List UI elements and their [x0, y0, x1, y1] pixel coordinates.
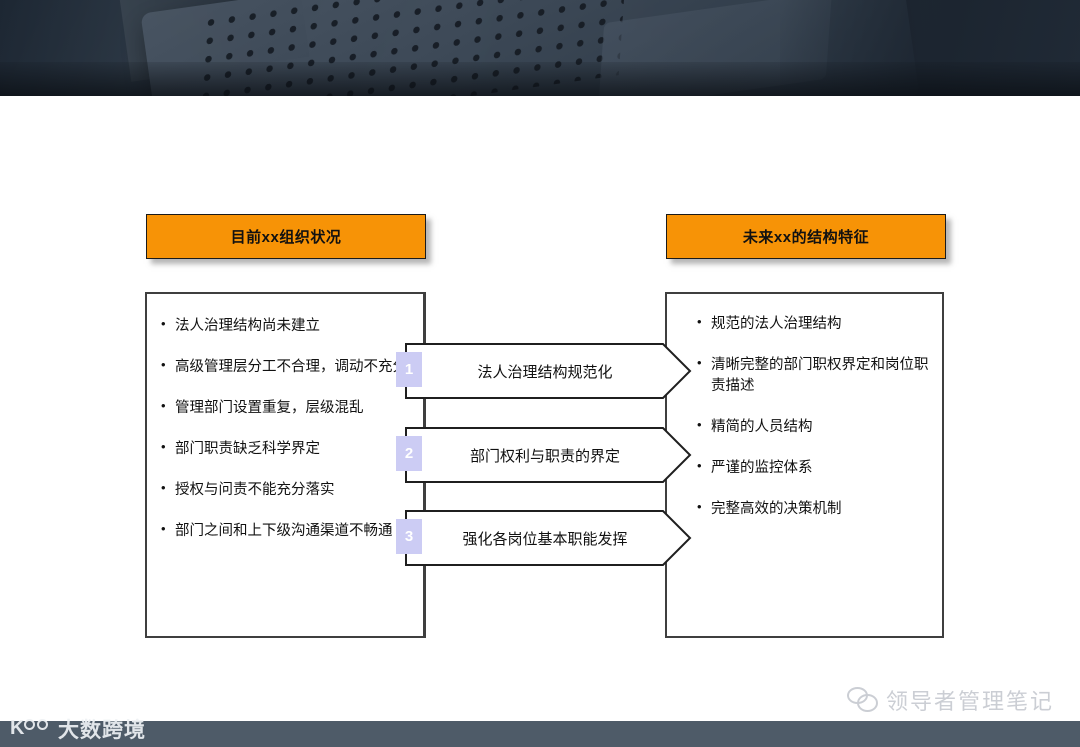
step-label-1: 法人治理结构规范化 [429, 343, 661, 399]
list-item: 规范的法人治理结构 [697, 314, 932, 335]
list-item: 部门职责缺乏科学界定 [161, 439, 409, 460]
step-number-badge-2: 2 [396, 436, 422, 471]
footer-bar [0, 721, 1080, 747]
wechat-watermark-text: 领导者管理笔记 [886, 684, 1054, 716]
brand-watermark: K 大数跨境 [10, 714, 146, 744]
banner-reflection [0, 62, 1080, 96]
current-state-panel: 法人治理结构尚未建立 高级管理层分工不合理，调动不充分 管理部门设置重复，层级混… [145, 292, 425, 638]
list-item: 精简的人员结构 [697, 417, 932, 438]
list-item: 高级管理层分工不合理，调动不充分 [161, 357, 409, 378]
step-arrow-2[interactable]: 2 部门权利与职责的界定 [405, 427, 691, 483]
brand-logo-icon: K [10, 717, 52, 741]
step-number-badge-3: 3 [396, 519, 422, 554]
step-number-badge-1: 1 [396, 352, 422, 387]
step-arrow-3[interactable]: 3 强化各岗位基本职能发挥 [405, 510, 691, 566]
list-item: 法人治理结构尚未建立 [161, 316, 409, 337]
list-item: 管理部门设置重复，层级混乱 [161, 398, 409, 419]
future-state-panel: 规范的法人治理结构 清晰完整的部门职权界定和岗位职责描述 精简的人员结构 严谨的… [665, 292, 944, 638]
brand-watermark-text: 大数跨境 [58, 714, 146, 744]
wechat-icon [847, 687, 877, 713]
right-column-header: 未来xx的结构特征 [666, 214, 946, 259]
list-item: 完整高效的决策机制 [697, 499, 932, 520]
list-item: 授权与问责不能充分落实 [161, 480, 409, 501]
list-item: 严谨的监控体系 [697, 458, 932, 479]
current-state-bullet-list: 法人治理结构尚未建立 高级管理层分工不合理，调动不充分 管理部门设置重复，层级混… [147, 294, 423, 542]
list-item: 清晰完整的部门职权界定和岗位职责描述 [697, 355, 932, 397]
step-label-3: 强化各岗位基本职能发挥 [429, 510, 661, 566]
left-column-header: 目前xx组织状况 [146, 214, 426, 259]
wechat-watermark: 领导者管理笔记 [847, 684, 1054, 716]
step-label-2: 部门权利与职责的界定 [429, 427, 661, 483]
future-state-bullet-list: 规范的法人治理结构 清晰完整的部门职权界定和岗位职责描述 精简的人员结构 严谨的… [667, 294, 942, 520]
list-item: 部门之间和上下级沟通渠道不畅通 [161, 521, 409, 542]
step-arrow-1[interactable]: 1 法人治理结构规范化 [405, 343, 691, 399]
top-banner-image [0, 0, 1080, 96]
